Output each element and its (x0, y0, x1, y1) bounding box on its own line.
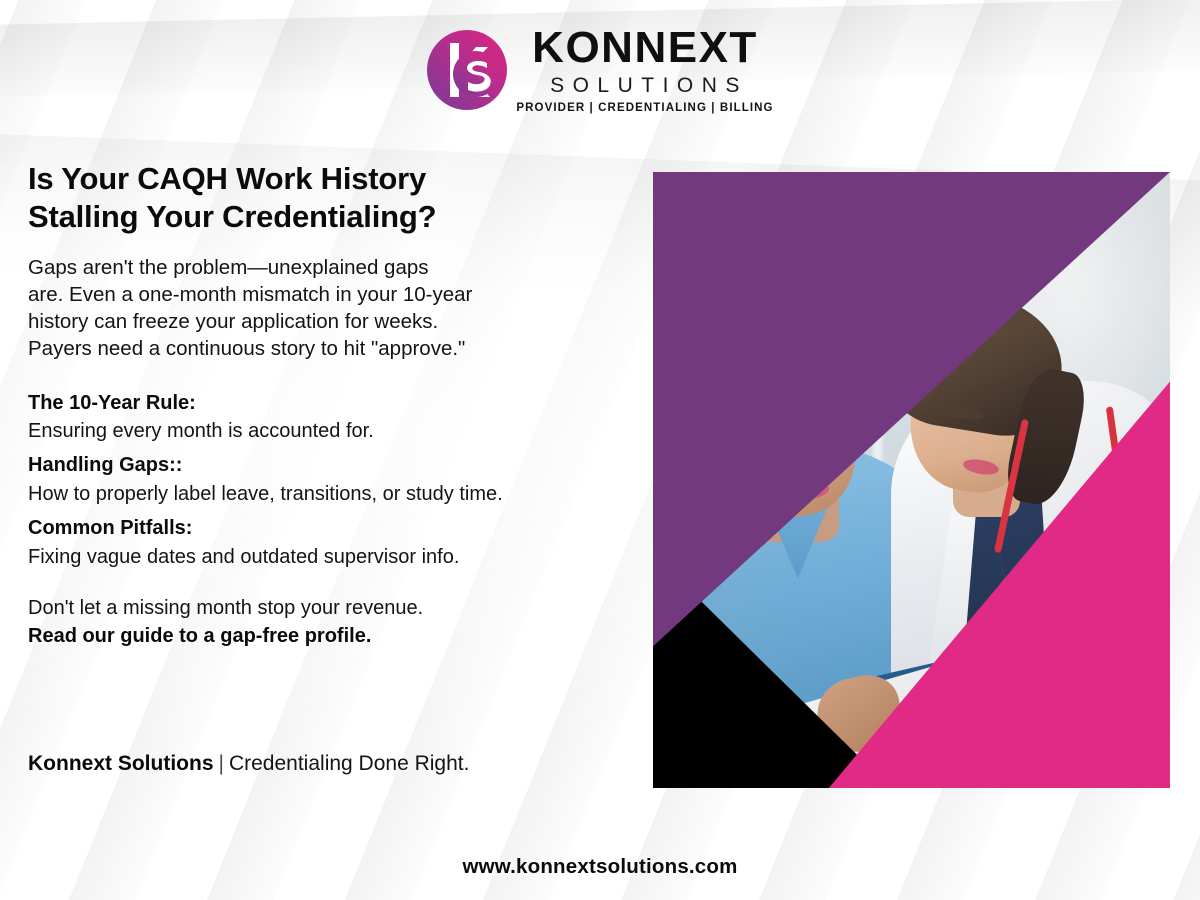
call-to-action[interactable]: Read our guide to a gap-free profile. (28, 623, 638, 651)
points-list: The 10-Year Rule: Ensuring every month i… (28, 389, 638, 571)
point-body: How to properly label leave, transitions… (28, 480, 638, 508)
headline-line-2: Stalling Your Credentialing? (28, 198, 638, 236)
lede-line-3: history can freeze your application for … (28, 308, 638, 335)
lede-line-2: are. Even a one-month mismatch in your 1… (28, 281, 638, 308)
point-body: Fixing vague dates and outdated supervis… (28, 543, 638, 571)
lede-line-4: Payers need a continuous story to hit "a… (28, 335, 638, 362)
signature-separator: | (214, 752, 229, 775)
closing-block: Don't let a missing month stop your reve… (28, 595, 638, 650)
brand-logo: KONNEXT SOLUTIONS PROVIDER | CREDENTIALI… (0, 26, 1200, 115)
ks-monogram-icon (426, 29, 508, 111)
point-title: Handling Gaps:: (28, 451, 638, 479)
logo-wordmark: KONNEXT SOLUTIONS PROVIDER | CREDENTIALI… (516, 26, 773, 115)
point-title: The 10-Year Rule: (28, 389, 638, 417)
page-title: Is Your CAQH Work History Stalling Your … (28, 160, 638, 236)
logo-tagline: PROVIDER | CREDENTIALING | BILLING (516, 103, 773, 115)
list-item: Handling Gaps:: How to properly label le… (28, 451, 638, 508)
brand-signature: Konnext Solutions|Credentialing Done Rig… (28, 752, 469, 776)
signature-tagline: Credentialing Done Right. (229, 752, 469, 775)
closing-line: Don't let a missing month stop your reve… (28, 595, 638, 623)
list-item: The 10-Year Rule: Ensuring every month i… (28, 389, 638, 446)
signature-brand: Konnext Solutions (28, 752, 214, 775)
logo-name: KONNEXT (532, 26, 758, 70)
hero-photo (653, 172, 1170, 788)
lede-paragraph: Gaps aren't the problem—unexplained gaps… (28, 254, 638, 363)
headline-line-1: Is Your CAQH Work History (28, 160, 638, 198)
point-body: Ensuring every month is accounted for. (28, 417, 638, 445)
footer-website-url[interactable]: www.konnextsolutions.com (0, 855, 1200, 879)
logo-subname: SOLUTIONS (550, 75, 748, 96)
point-title: Common Pitfalls: (28, 514, 638, 542)
lede-line-1: Gaps aren't the problem—unexplained gaps (28, 254, 638, 281)
poster-canvas: KONNEXT SOLUTIONS PROVIDER | CREDENTIALI… (0, 0, 1200, 900)
copy-column: Is Your CAQH Work History Stalling Your … (28, 160, 638, 650)
list-item: Common Pitfalls: Fixing vague dates and … (28, 514, 638, 571)
